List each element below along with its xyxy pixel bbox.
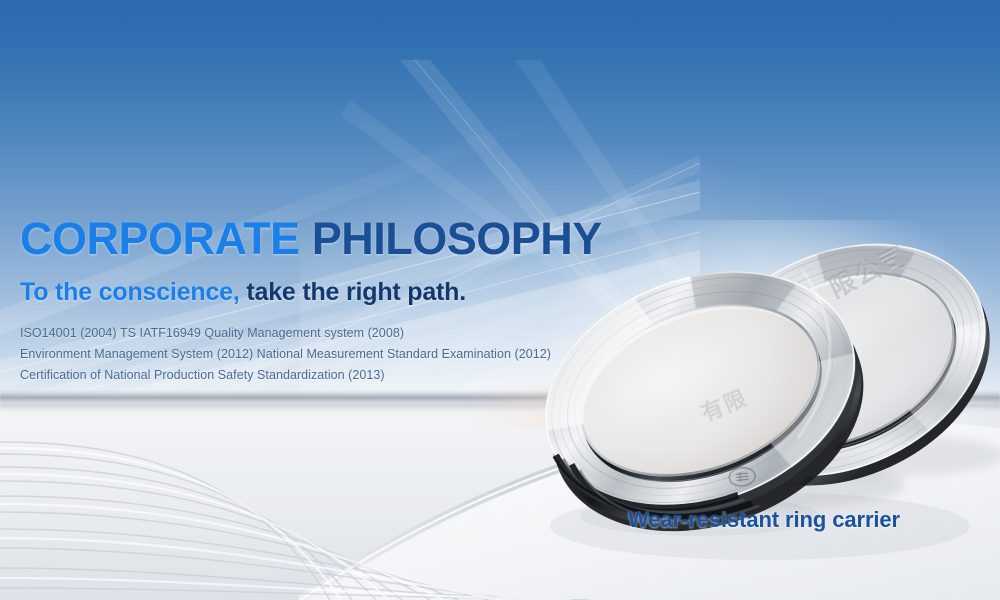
copy-block: CORPORATE PHILOSOPHY To the conscience, … xyxy=(20,214,640,386)
headline-word-corporate: CORPORATE xyxy=(20,213,300,264)
subtitle-part-right-path: take the right path. xyxy=(246,278,466,306)
corporate-philosophy-banner: 限公司 有限 CORPORATE PHILOSOPHY To the consc… xyxy=(0,0,1000,600)
headline-word-philosophy: PHILOSOPHY xyxy=(312,213,602,264)
subtitle-part-conscience: To the conscience, xyxy=(20,278,240,306)
certification-list: ISO14001 (2004) TS IATF16949 Quality Man… xyxy=(20,323,640,386)
certification-line: Environment Management System (2012) Nat… xyxy=(20,344,640,365)
page-title: CORPORATE PHILOSOPHY xyxy=(20,214,640,264)
subtitle: To the conscience, take the right path. xyxy=(20,277,640,307)
certification-line: Certification of National Production Saf… xyxy=(20,365,640,386)
certification-line: ISO14001 (2004) TS IATF16949 Quality Man… xyxy=(20,323,640,344)
product-caption: Wear-resistant ring carrier xyxy=(628,507,900,533)
